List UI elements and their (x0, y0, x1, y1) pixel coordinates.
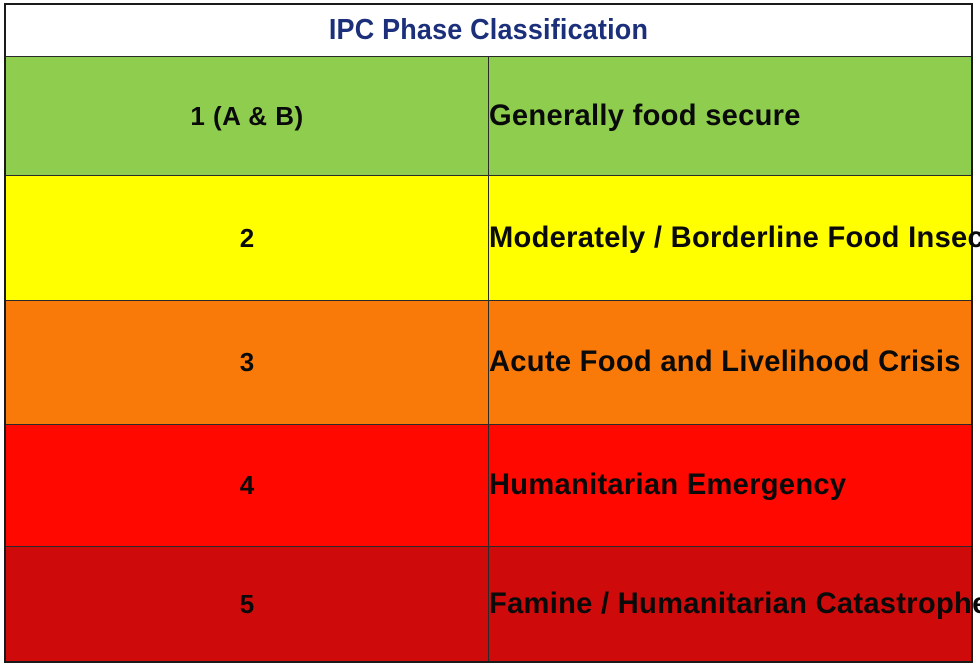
table-title-cell: IPC Phase Classification (5, 4, 972, 56)
phase-description-label: Generally food secure (489, 100, 957, 132)
phase-number-label: 4 (6, 472, 488, 498)
phase-description-label: Humanitarian Emergency (489, 469, 957, 501)
ipc-phase-table: IPC Phase Classification 1 (A & B) Gener… (4, 3, 973, 663)
phase-number-cell-5: 5 (5, 546, 489, 662)
phase-number-cell-3: 3 (5, 300, 489, 424)
phase-description-label: Famine / Humanitarian Catastrophe (489, 588, 957, 620)
phase-description-cell-2: Moderately / Borderline Food Insecure (489, 175, 973, 300)
phase-number-label: 3 (6, 349, 488, 375)
phase-number-cell-4: 4 (5, 424, 489, 546)
table-row: 5 Famine / Humanitarian Catastrophe (5, 546, 972, 662)
ipc-phase-classification-figure: IPC Phase Classification 1 (A & B) Gener… (0, 0, 980, 667)
phase-number-label: 5 (6, 591, 488, 617)
phase-description-label: Moderately / Borderline Food Insecure (489, 222, 957, 254)
page-title: IPC Phase Classification (40, 16, 937, 45)
table-row: 4 Humanitarian Emergency (5, 424, 972, 546)
phase-number-label: 2 (6, 225, 488, 251)
phase-number-cell-1: 1 (A & B) (5, 56, 489, 175)
phase-description-cell-4: Humanitarian Emergency (489, 424, 973, 546)
phase-description-cell-1: Generally food secure (489, 56, 973, 175)
table-row: 2 Moderately / Borderline Food Insecure (5, 175, 972, 300)
table-row: 3 Acute Food and Livelihood Crisis (5, 300, 972, 424)
phase-description-cell-3: Acute Food and Livelihood Crisis (489, 300, 973, 424)
table-row: 1 (A & B) Generally food secure (5, 56, 972, 175)
phase-number-cell-2: 2 (5, 175, 489, 300)
phase-description-cell-5: Famine / Humanitarian Catastrophe (489, 546, 973, 662)
phase-description-label: Acute Food and Livelihood Crisis (489, 346, 957, 378)
table-header-row: IPC Phase Classification (5, 4, 972, 56)
phase-number-label: 1 (A & B) (6, 103, 488, 129)
